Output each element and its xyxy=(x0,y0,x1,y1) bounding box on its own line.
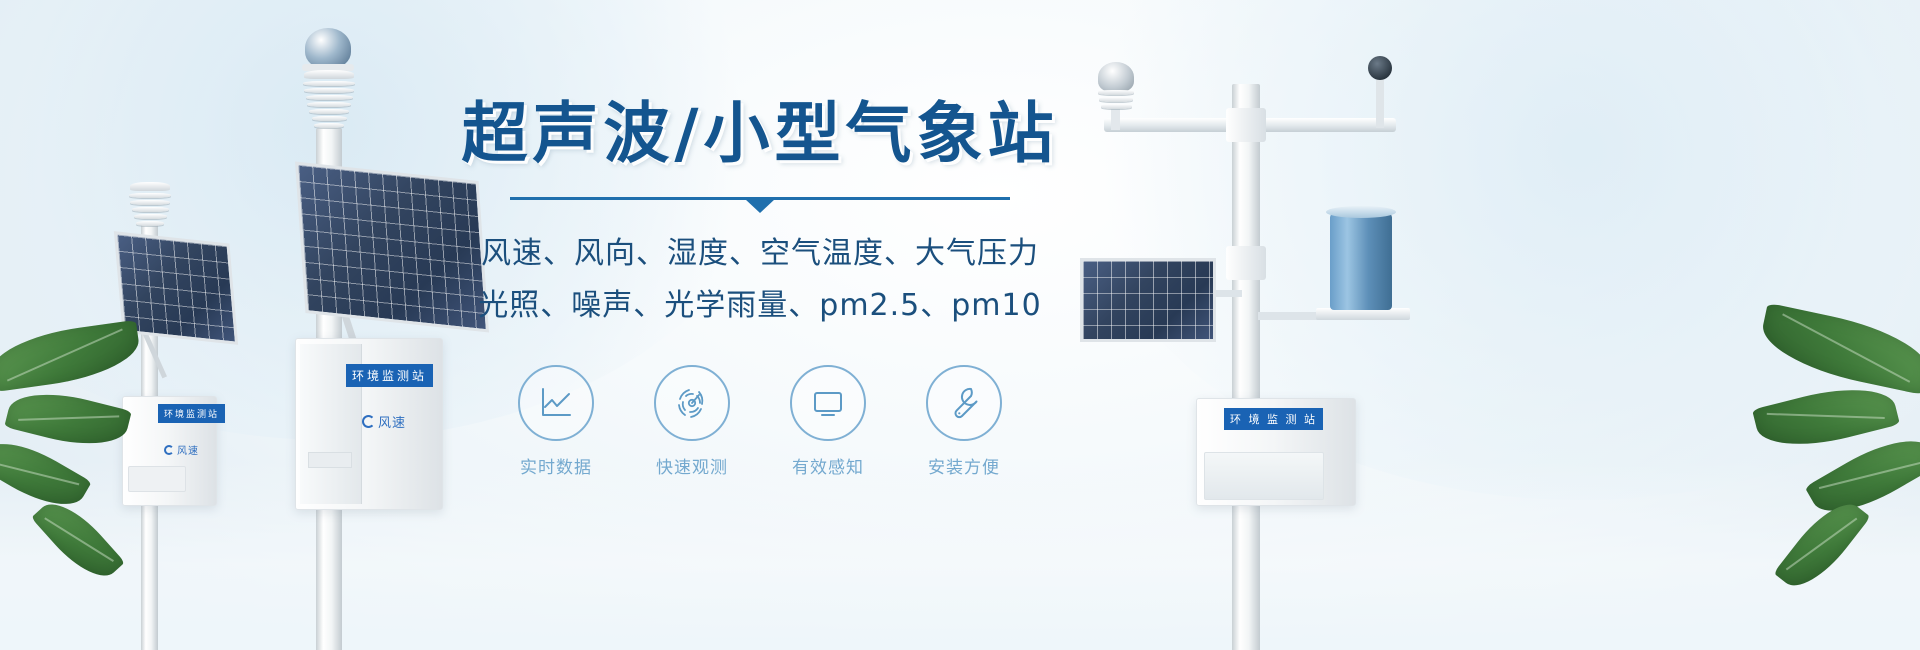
feature-item-easy-install[interactable]: 安装方便 xyxy=(918,365,1010,478)
rain-gauge-barrel xyxy=(1330,212,1392,310)
dome-sensor xyxy=(305,28,351,68)
divider xyxy=(510,194,1010,210)
bottom-fade-overlay xyxy=(0,460,1920,650)
feature-item-effective-sensing[interactable]: 有效感知 xyxy=(782,365,874,478)
brand-text: 风速 xyxy=(177,442,199,457)
banner-content: 超声波/小型气象站 风速、风向、湿度、空气温度、大气压力 光照、噪声、光学雨量、… xyxy=(440,96,1080,478)
brand-text: 风速 xyxy=(378,412,406,431)
cabinet-base-right xyxy=(1204,452,1324,500)
cabinet-label-center: 环境监测站 xyxy=(346,364,433,387)
feature-label: 有效感知 xyxy=(782,453,874,478)
rain-sensor-stem xyxy=(1376,78,1384,128)
foliage-leaf-right-2 xyxy=(1752,376,1900,458)
page-title: 超声波/小型气象站 xyxy=(440,96,1080,172)
mast-right xyxy=(1232,84,1260,650)
feature-label: 实时数据 xyxy=(510,453,602,478)
subtitle-line-1: 风速、风向、湿度、空气温度、大气压力 xyxy=(440,230,1080,279)
solar-panel-right xyxy=(1080,258,1216,342)
sensor-stem-right xyxy=(1111,108,1120,130)
feature-label: 快速观测 xyxy=(646,453,738,478)
brand-logo-center: 风速 xyxy=(362,412,406,431)
optical-rain-sensor xyxy=(1368,56,1392,80)
feature-label: 安装方便 xyxy=(918,453,1010,478)
rain-gauge-rim xyxy=(1326,206,1396,218)
cabinet-lower-panel-left xyxy=(128,466,186,492)
cabinet-vent-center xyxy=(308,452,352,468)
shelf-arm-right xyxy=(1258,312,1320,320)
line-chart-icon xyxy=(518,365,594,441)
cabinet-label-left: 环境监测站 xyxy=(158,404,225,423)
mast-clamp-mid xyxy=(1226,246,1266,280)
feature-list: 实时数据 快速 xyxy=(440,365,1080,478)
brand-logo-left: 风速 xyxy=(164,442,199,457)
product-banner: 环境监测站 风速 环境监测站 xyxy=(0,0,1920,650)
brand-mark-icon xyxy=(164,445,174,455)
feature-item-fast-observation[interactable]: 快速观测 xyxy=(646,365,738,478)
radiation-shield-center xyxy=(303,70,355,130)
subtitle-line-2: 光照、噪声、光学雨量、pm2.5、pm10 xyxy=(440,282,1080,331)
radiation-shield-left xyxy=(128,182,172,228)
radar-scan-icon xyxy=(654,365,730,441)
mast-clamp-upper xyxy=(1226,108,1266,142)
radiation-shield-right xyxy=(1098,90,1134,111)
foliage-leaf-right-1 xyxy=(1756,303,1920,395)
foliage-leaf-left-1 xyxy=(0,320,143,392)
brand-mark-icon xyxy=(362,415,375,428)
ultrasonic-anemometer xyxy=(1098,62,1134,92)
foliage-leaf-left-4 xyxy=(31,491,125,589)
monitor-icon xyxy=(790,365,866,441)
wrench-icon xyxy=(926,365,1002,441)
feature-item-realtime-data[interactable]: 实时数据 xyxy=(510,365,602,478)
cabinet-label-right: 环 境 监 测 站 xyxy=(1224,408,1323,430)
divider-arrow-icon xyxy=(745,199,775,213)
foliage-leaf-left-2 xyxy=(4,382,132,456)
